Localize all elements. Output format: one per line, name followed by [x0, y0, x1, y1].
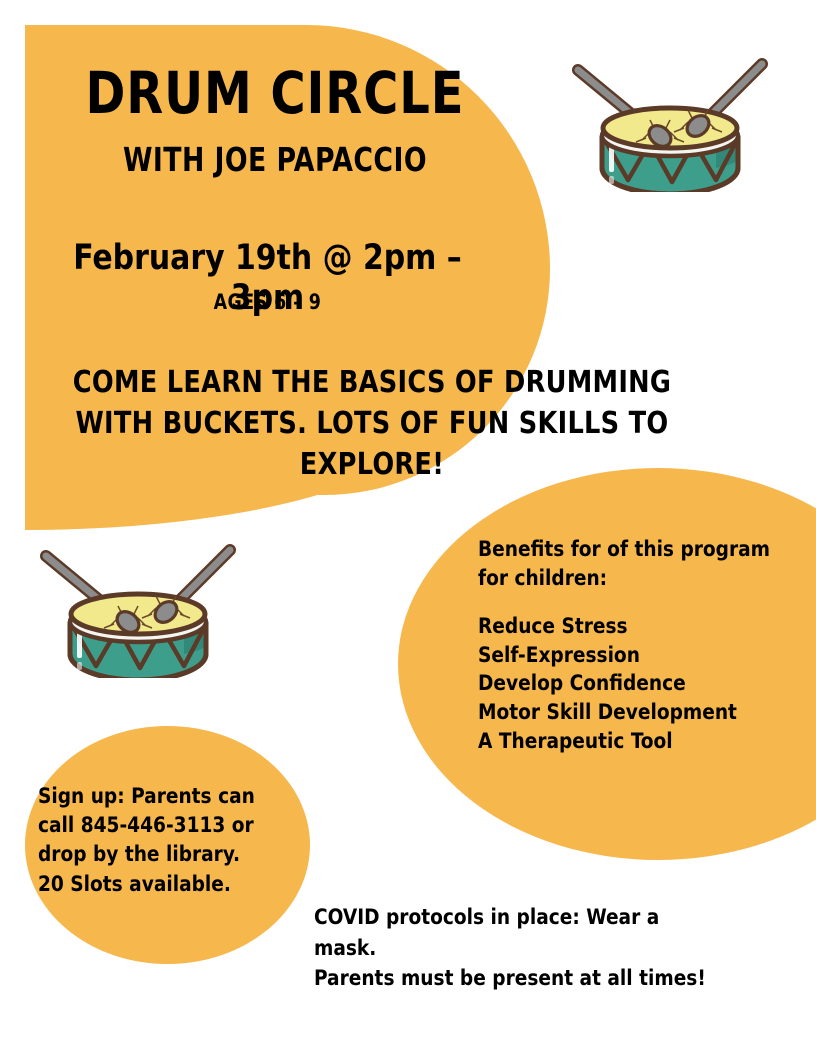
- signup-line: drop by the library.: [38, 840, 268, 869]
- signup-phone-line: call 845-446-3113 or: [38, 811, 268, 840]
- description-line: COME LEARN THE BASICS OF DRUMMING: [64, 362, 680, 403]
- benefit-item: Develop Confidence: [478, 670, 776, 699]
- covid-line: Parents must be present at all times!: [314, 964, 717, 995]
- covid-line: COVID protocols in place: Wear a mask.: [314, 903, 717, 964]
- event-age-range: AGES 6 – 9: [44, 290, 490, 314]
- signup-slots-line: 20 Slots available.: [38, 870, 268, 899]
- flyer-page: DRUM CIRCLE WITH JOE PAPACCIO February 1…: [0, 0, 816, 1056]
- benefit-item: Reduce Stress: [478, 613, 776, 642]
- signup-section: Sign up: Parents can call 845-446-3113 o…: [38, 782, 268, 899]
- benefits-spacer: [478, 593, 776, 613]
- benefits-section: Benefits for of this program for childre…: [478, 536, 776, 756]
- covid-notice: COVID protocols in place: Wear a mask. P…: [314, 903, 717, 995]
- signup-line: Sign up: Parents can: [38, 782, 268, 811]
- description-line: WITH BUCKETS. LOTS OF FUN SKILLS TO: [64, 403, 680, 444]
- benefit-item: Motor Skill Development: [478, 699, 776, 728]
- description-line: EXPLORE!: [64, 444, 680, 485]
- page-subtitle: WITH JOE PAPACCIO: [50, 140, 500, 179]
- benefit-item: A Therapeutic Tool: [478, 728, 776, 757]
- benefits-heading-line: Benefits for of this program: [478, 536, 776, 565]
- benefits-heading-line: for children:: [478, 565, 776, 594]
- event-description: COME LEARN THE BASICS OF DRUMMING WITH B…: [64, 362, 680, 485]
- benefit-item: Self-Expression: [478, 642, 776, 671]
- snare-drum-with-sticks-icon: [34, 542, 242, 678]
- page-title: DRUM CIRCLE: [45, 64, 505, 122]
- snare-drum-with-sticks-icon: [566, 56, 774, 192]
